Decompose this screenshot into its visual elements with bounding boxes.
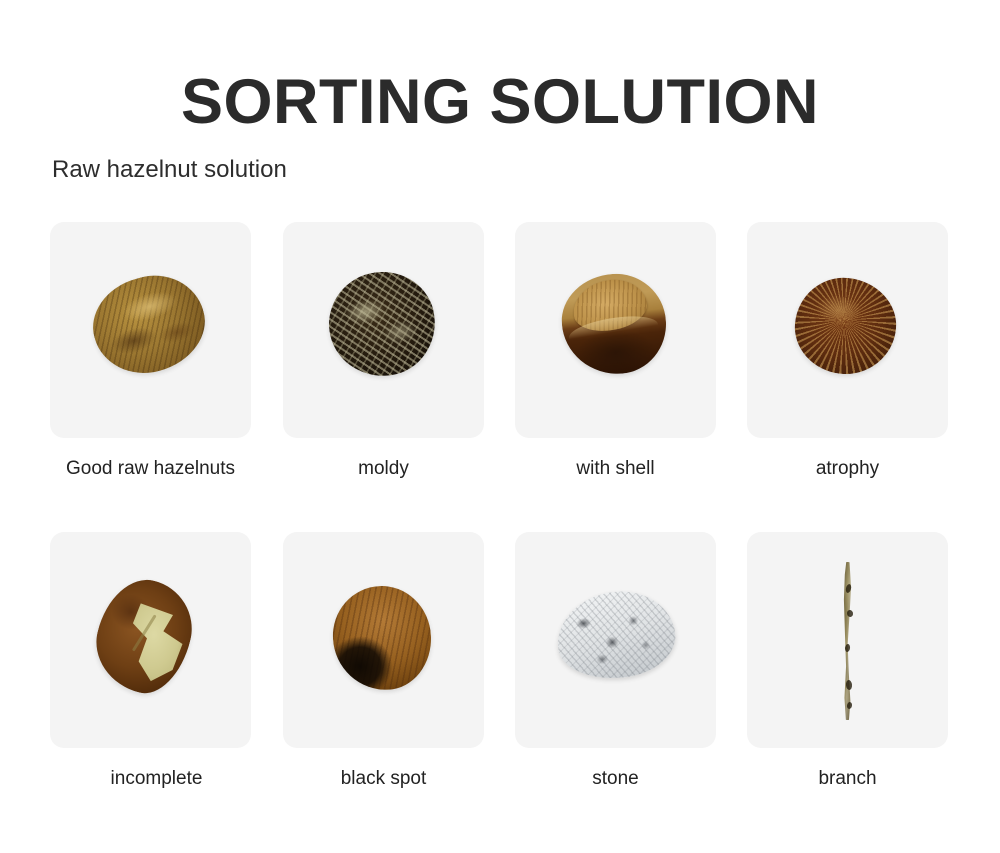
sample-label: atrophy [747, 456, 948, 482]
stone-image [515, 532, 716, 748]
sorting-solution-page: SORTING SOLUTION Raw hazelnut solution G… [0, 0, 1000, 853]
sample-cell-good-raw-hazelnuts: Good raw hazelnuts [50, 222, 251, 482]
black-spot-hazelnut-image [283, 532, 484, 748]
bark-fleck-icon [845, 680, 852, 691]
thumbnail-card [515, 532, 716, 748]
hazelnut-shape-icon [330, 584, 433, 693]
thumbnail-card [283, 222, 484, 438]
hazelnut-with-shell-image [515, 222, 716, 438]
thumbnail-card [50, 222, 251, 438]
hazelnut-shell-shape-icon [559, 270, 670, 377]
bark-fleck-icon [845, 584, 852, 594]
bark-fleck-icon [846, 610, 853, 618]
hazelnut-shape-icon [322, 265, 441, 383]
sample-cell-black-spot: black spot [283, 532, 484, 792]
sample-label: branch [747, 766, 948, 792]
thumbnail-card [50, 532, 251, 748]
hazelnut-shape-icon [86, 571, 202, 702]
branch-image [747, 532, 948, 748]
hazelnut-shape-icon [82, 263, 216, 385]
sample-cell-stone: stone [515, 532, 716, 792]
sample-label: incomplete [56, 766, 257, 792]
bark-fleck-icon [846, 702, 852, 710]
sample-cell-branch: branch [747, 532, 948, 792]
branch-shape-icon [835, 562, 861, 720]
sample-label: Good raw hazelnuts [50, 456, 251, 482]
sample-label: with shell [515, 456, 716, 482]
thumbnail-card [747, 532, 948, 748]
broken-kernel-icon [121, 599, 191, 687]
sample-label: moldy [283, 456, 484, 482]
sample-cell-moldy: moldy [283, 222, 484, 482]
sample-label: black spot [283, 766, 484, 792]
stone-shape-icon [552, 585, 680, 685]
incomplete-hazelnut-image [50, 532, 251, 748]
thumbnail-card [283, 532, 484, 748]
sample-grid: Good raw hazelnuts moldy with she [0, 0, 1000, 853]
sample-cell-with-shell: with shell [515, 222, 716, 482]
bark-fleck-icon [844, 644, 850, 653]
good-raw-hazelnut-image [50, 222, 251, 438]
thumbnail-card [747, 222, 948, 438]
sample-cell-atrophy: atrophy [747, 222, 948, 482]
thumbnail-card [515, 222, 716, 438]
sample-label: stone [515, 766, 716, 792]
hazelnut-shape-icon [790, 273, 900, 379]
atrophied-hazelnut-image [747, 222, 948, 438]
moldy-hazelnut-image [283, 222, 484, 438]
sample-cell-incomplete: incomplete [50, 532, 251, 792]
